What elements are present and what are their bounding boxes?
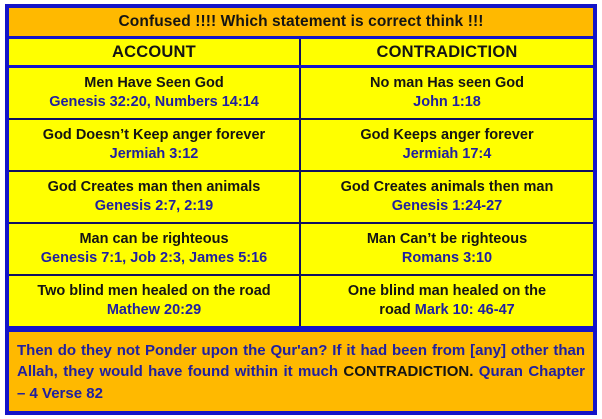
account-statement: God Doesn’t Keep anger forever	[43, 127, 265, 144]
contradiction-reference: Genesis 1:24-27	[392, 198, 502, 215]
title-banner: Confused !!!! Which statement is correct…	[9, 8, 593, 39]
account-reference: Genesis 7:1, Job 2:3, James 5:16	[41, 250, 268, 267]
column-header-account-label: ACCOUNT	[112, 43, 196, 62]
account-statement: Man can be righteous	[79, 231, 228, 248]
table-row: God Doesn’t Keep anger forever Jermiah 3…	[9, 120, 593, 172]
comparison-poster: Confused !!!! Which statement is correct…	[5, 4, 597, 415]
contradiction-statement: No man Has seen God	[370, 75, 524, 92]
contradiction-statement: One blind man healed on the	[348, 283, 546, 300]
contradiction-cell: God Keeps anger forever Jermiah 17:4	[301, 120, 593, 170]
account-statement: God Creates man then animals	[48, 179, 261, 196]
table-row: Two blind men healed on the road Mathew …	[9, 276, 593, 329]
table-row: Man can be righteous Genesis 7:1, Job 2:…	[9, 224, 593, 276]
account-reference: Mathew 20:29	[107, 302, 201, 319]
contradiction-reference: John 1:18	[413, 94, 481, 111]
page-title: Confused !!!! Which statement is correct…	[119, 13, 484, 31]
contradiction-statement: God Keeps anger forever	[360, 127, 533, 144]
account-statement: Two blind men healed on the road	[37, 283, 270, 300]
comparison-table: ACCOUNT CONTRADICTION Men Have Seen God …	[9, 39, 593, 329]
quran-quote-emphasis: CONTRADICTION.	[343, 363, 473, 380]
contradiction-reference: Romans 3:10	[402, 250, 492, 267]
account-reference: Jermiah 3:12	[110, 146, 199, 163]
account-reference: Genesis 2:7, 2:19	[95, 198, 214, 215]
quran-quote-footer: Then do they not Ponder upon the Qur'an?…	[9, 329, 593, 411]
account-reference: Genesis 32:20, Numbers 14:14	[49, 94, 259, 111]
table-row: Men Have Seen God Genesis 32:20, Numbers…	[9, 68, 593, 120]
account-cell: Man can be righteous Genesis 7:1, Job 2:…	[9, 224, 301, 274]
account-cell: God Doesn’t Keep anger forever Jermiah 3…	[9, 120, 301, 170]
account-cell: Men Have Seen God Genesis 32:20, Numbers…	[9, 68, 301, 118]
contradiction-reference-text: Mark 10: 46-47	[415, 302, 515, 318]
table-row: God Creates man then animals Genesis 2:7…	[9, 172, 593, 224]
contradiction-cell: God Creates animals then man Genesis 1:2…	[301, 172, 593, 222]
contradiction-cell: No man Has seen God John 1:18	[301, 68, 593, 118]
contradiction-statement: God Creates animals then man	[341, 179, 554, 196]
table-header-row: ACCOUNT CONTRADICTION	[9, 39, 593, 68]
account-cell: Two blind men healed on the road Mathew …	[9, 276, 301, 326]
column-header-contradiction-label: CONTRADICTION	[376, 43, 517, 62]
column-header-contradiction: CONTRADICTION	[301, 39, 593, 65]
contradiction-cell: Man Can’t be righteous Romans 3:10	[301, 224, 593, 274]
contradiction-cell: One blind man healed on the road Mark 10…	[301, 276, 593, 326]
contradiction-reference: Jermiah 17:4	[403, 146, 492, 163]
column-header-account: ACCOUNT	[9, 39, 301, 65]
account-cell: God Creates man then animals Genesis 2:7…	[9, 172, 301, 222]
account-statement: Men Have Seen God	[84, 75, 223, 92]
contradiction-reference: road Mark 10: 46-47	[379, 302, 514, 319]
contradiction-statement-wrap: road	[379, 302, 410, 318]
quran-quote-text: Then do they not Ponder upon the Qur'an?…	[17, 340, 585, 404]
contradiction-statement: Man Can’t be righteous	[367, 231, 527, 248]
